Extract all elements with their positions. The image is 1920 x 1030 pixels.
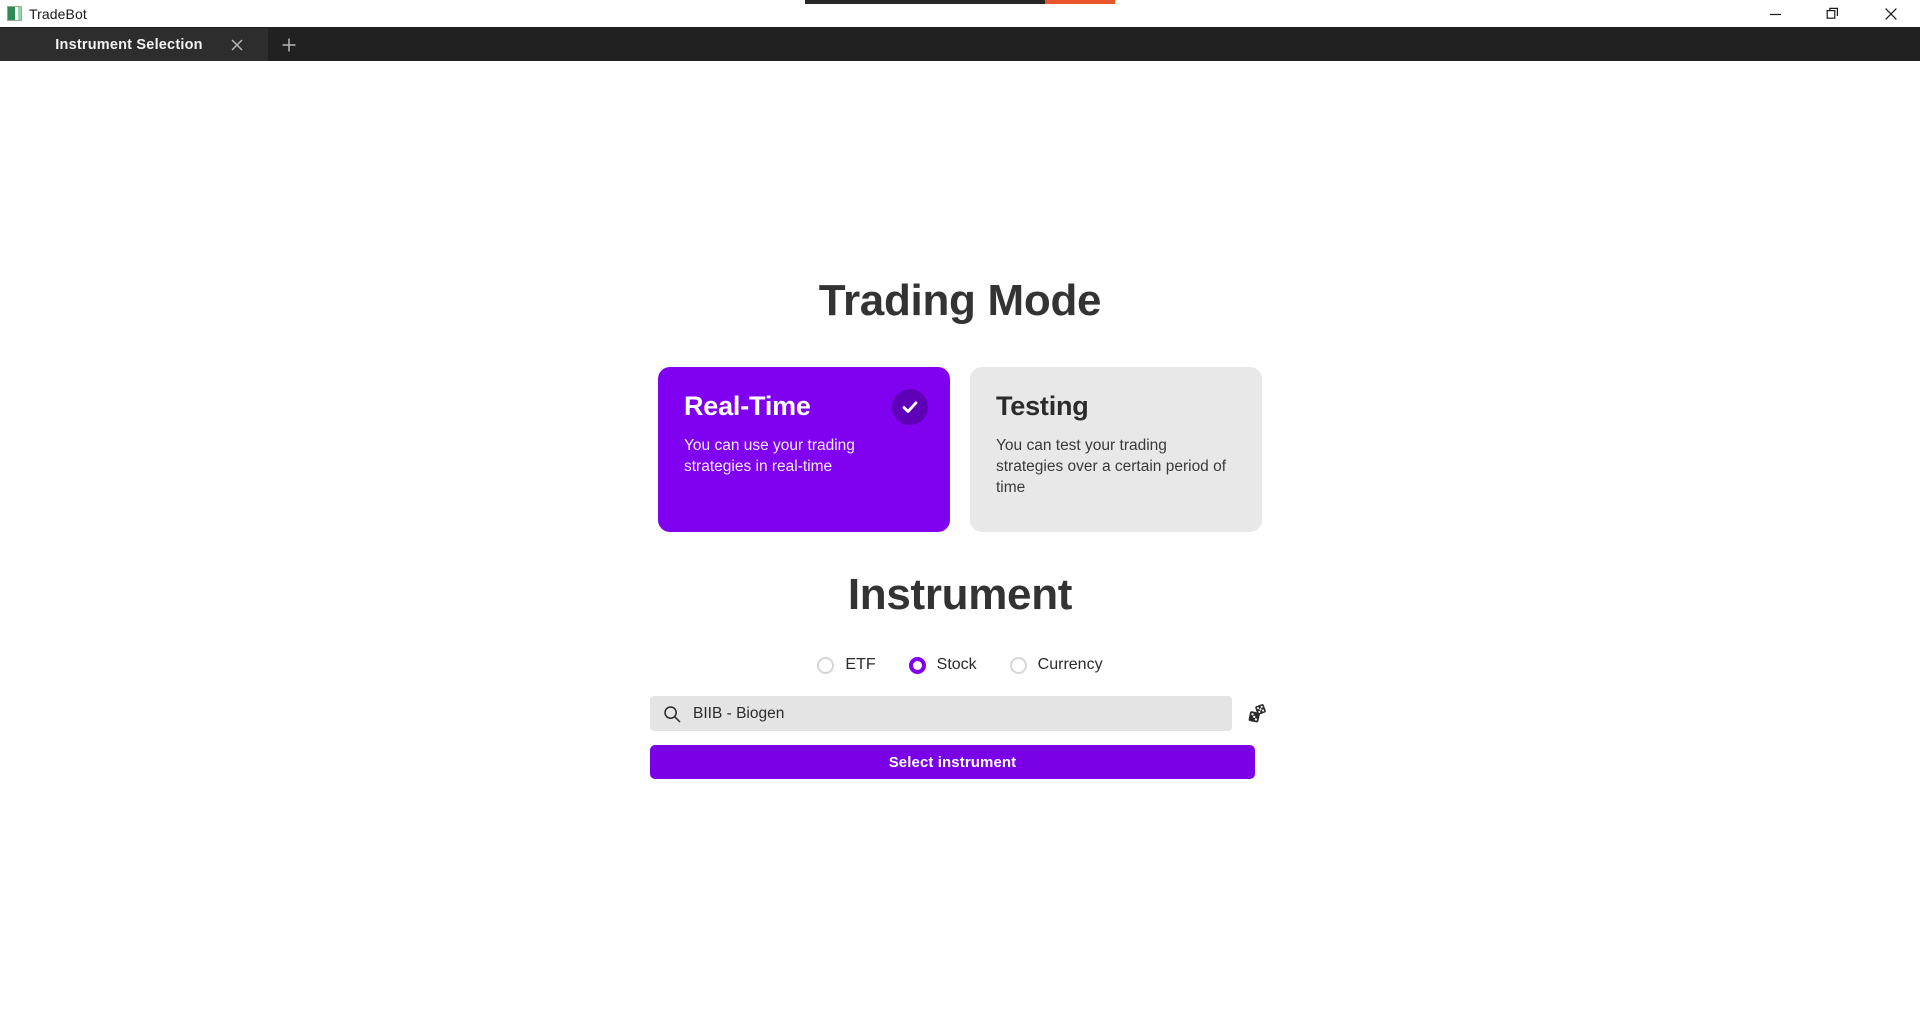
top-progress-sliver-accent [1045,0,1115,4]
app-title: TradeBot [29,6,87,22]
trading-mode-heading: Trading Mode [650,276,1270,326]
radio-label: Currency [1038,656,1103,674]
trading-mode-card-real-time[interactable]: Real-Time You can use your trading strat… [658,367,950,532]
radio-option-etf[interactable]: ETF [817,656,875,674]
dice-icon [1246,702,1270,726]
radio-label: Stock [937,656,977,674]
window-titlebar: TradeBot [0,0,1920,28]
close-tab-icon[interactable] [228,36,246,54]
close-button[interactable] [1862,0,1920,28]
maximize-button[interactable] [1804,0,1862,28]
minimize-icon [1769,8,1782,21]
instrument-search-row: BIIB - Biogen [650,696,1270,731]
tab-strip: Instrument Selection [0,28,1920,61]
trading-mode-card-testing[interactable]: Testing You can test your trading strate… [970,367,1262,532]
radio-indicator [909,657,926,674]
center-column: Trading Mode Real-Time You can use your … [650,61,1270,779]
card-title: Testing [996,391,1236,422]
instrument-type-radio-group: ETF Stock Currency [650,656,1270,674]
chart-app-icon [7,6,22,21]
select-instrument-button[interactable]: Select instrument [650,745,1255,779]
radio-indicator [817,657,834,674]
tab-label: Instrument Selection [55,37,202,53]
trading-mode-card-group: Real-Time You can use your trading strat… [650,367,1270,532]
instrument-search-input[interactable]: BIIB - Biogen [650,696,1232,731]
card-description: You can use your trading strategies in r… [684,436,884,478]
radio-indicator [1010,657,1027,674]
tab-instrument-selection[interactable]: Instrument Selection [0,28,268,61]
search-icon [663,705,681,723]
check-icon [892,389,928,425]
minimize-button[interactable] [1746,0,1804,28]
radio-option-stock[interactable]: Stock [909,656,977,674]
window-controls [1746,0,1920,28]
random-instrument-button[interactable] [1245,701,1270,727]
instrument-heading: Instrument [650,570,1270,620]
top-progress-sliver [805,0,1115,4]
close-window-icon [1884,7,1898,21]
instrument-search-value: BIIB - Biogen [693,705,784,723]
restore-window-icon [1826,7,1840,21]
card-description: You can test your trading strategies ove… [996,436,1236,499]
card-title: Real-Time [684,391,924,422]
new-tab-button[interactable] [268,28,310,61]
radio-option-currency[interactable]: Currency [1010,656,1103,674]
main-content: Trading Mode Real-Time You can use your … [0,61,1920,1030]
plus-icon [281,37,297,53]
radio-label: ETF [845,656,875,674]
